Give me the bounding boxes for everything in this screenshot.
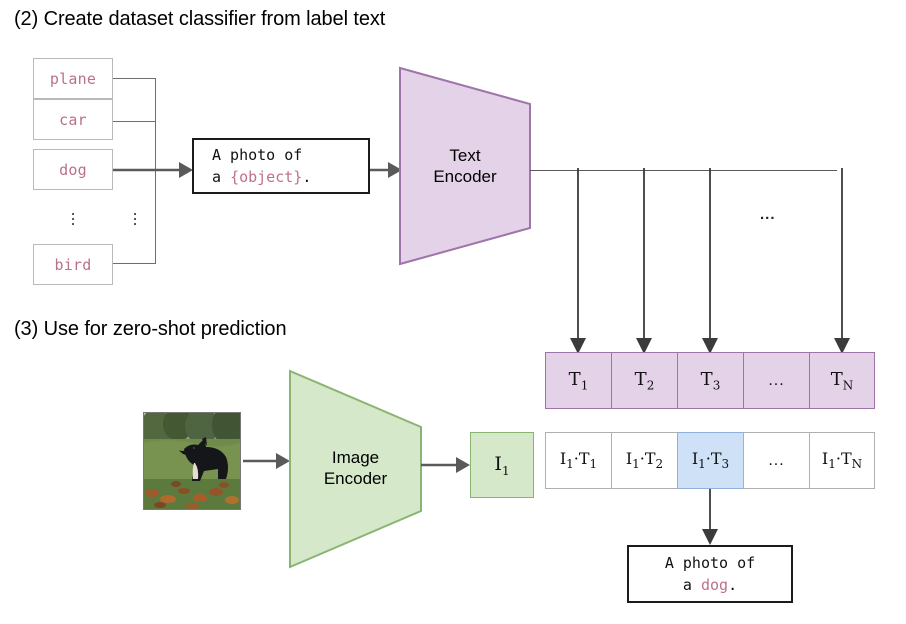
image-embedding-label: I1 — [494, 453, 509, 478]
text-embedding-label: TN — [831, 369, 854, 393]
arrow-bus-to-tn — [830, 168, 854, 356]
text-embedding-cell: T1 — [545, 352, 611, 409]
text-embedding-label: T1 — [569, 369, 589, 393]
similarity-cell: I1·T1 — [545, 432, 611, 489]
text-embedding-cell: TN — [809, 352, 875, 409]
section-heading-step2: (2) Create dataset classifier from label… — [14, 8, 385, 31]
input-image-thumbnail — [143, 412, 241, 510]
label-list-ellipsis: ... — [68, 208, 78, 223]
arrow-bus-to-t3 — [698, 168, 722, 356]
similarity-ellipsis: ... — [768, 453, 784, 469]
image-encoder-line-1: Image — [288, 447, 423, 468]
label-box-car: car — [33, 99, 113, 140]
text-embedding-label: T2 — [635, 369, 655, 393]
label-text: car — [59, 111, 87, 129]
prompt-line-1: A photo of — [212, 144, 368, 166]
text-embedding-label: T3 — [701, 369, 721, 393]
text-embedding-ellipsis: ... — [768, 373, 784, 389]
label-text: bird — [55, 256, 92, 274]
diagram-canvas: (2) Create dataset classifier from label… — [0, 0, 906, 624]
label-box-dog: dog — [33, 149, 113, 190]
similarity-label: I1·T1 — [560, 449, 597, 471]
arrow-photo-to-image-encoder — [243, 449, 293, 473]
connector-ellipsis: ... — [130, 208, 140, 223]
similarity-label: I1·T2 — [626, 449, 663, 471]
label-box-bird: bird — [33, 244, 113, 285]
prediction-output-box: A photo of a dog. — [627, 545, 793, 603]
arrow-labels-to-prompt — [113, 158, 195, 182]
arrow-bus-to-t2 — [632, 168, 656, 356]
text-encoder-line-1: Text — [398, 145, 532, 166]
label-text: dog — [59, 161, 87, 179]
text-encoder-line-2: Encoder — [398, 166, 532, 187]
similarity-cell: I1·TN — [809, 432, 875, 489]
connector-stub-plane — [113, 78, 156, 79]
output-line-2: a dog. — [629, 574, 791, 596]
prompt-suffix: . — [302, 168, 311, 186]
similarity-label: I1·TN — [822, 449, 862, 471]
label-box-plane: plane — [33, 58, 113, 99]
arrow-selected-to-output — [698, 489, 722, 547]
image-encoder-label: Image Encoder — [288, 447, 423, 489]
image-embedding-box: I1 — [470, 432, 534, 498]
text-encoder-label: Text Encoder — [398, 145, 532, 187]
image-encoder-line-2: Encoder — [288, 468, 423, 489]
similarity-cell: I1·T2 — [611, 432, 677, 489]
arrow-bus-to-t1 — [566, 168, 590, 356]
arrow-image-encoder-to-i1 — [421, 453, 473, 477]
text-embedding-cell: T3 — [677, 352, 743, 409]
similarity-cell-ellipsis: ... — [743, 432, 809, 489]
label-text: plane — [50, 70, 96, 88]
output-line-1: A photo of — [629, 552, 791, 574]
prompt-template-box: A photo of a {object}. — [192, 138, 370, 194]
similarity-row: I1·T1 I1·T2 I1·T3 ... I1·TN — [545, 432, 875, 489]
text-embedding-cell-ellipsis: ... — [743, 352, 809, 409]
section-heading-step3: (3) Use for zero-shot prediction — [14, 318, 286, 341]
prompt-line-2: a {object}. — [212, 166, 368, 188]
text-embedding-cell: T2 — [611, 352, 677, 409]
bus-ellipsis: ... — [760, 206, 776, 223]
output-prefix: a — [683, 576, 701, 594]
text-embedding-row: T1 T2 T3 ... TN — [545, 352, 875, 409]
output-predicted-class: dog — [701, 576, 728, 594]
output-suffix: . — [728, 576, 737, 594]
connector-stub-bird — [113, 263, 156, 264]
prompt-slot: {object} — [230, 168, 302, 186]
similarity-cell-selected: I1·T3 — [677, 432, 743, 489]
prompt-prefix: a — [212, 168, 230, 186]
similarity-label: I1·T3 — [692, 449, 729, 471]
connector-stub-car — [113, 121, 156, 122]
